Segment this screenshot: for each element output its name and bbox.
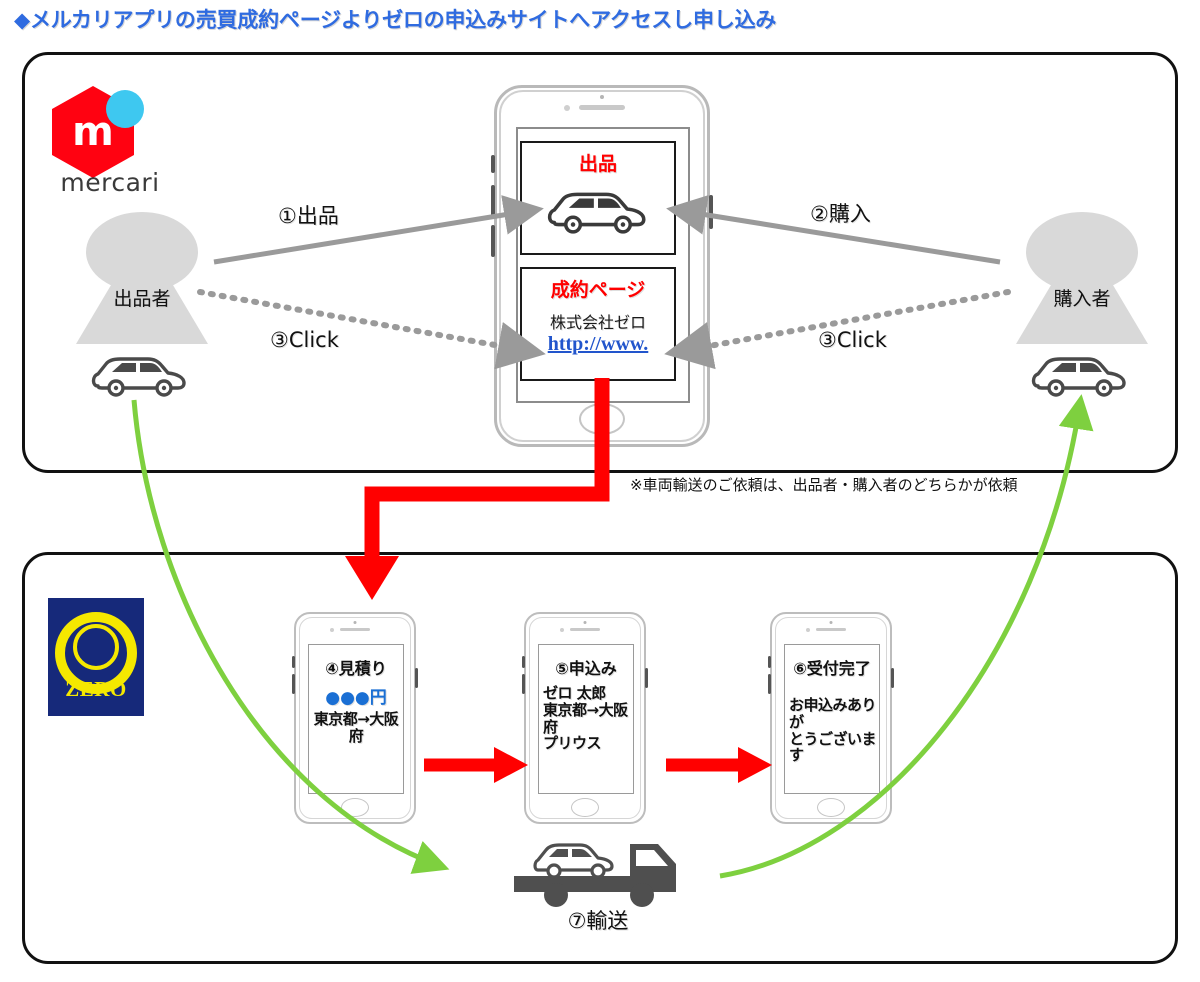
- phone-power-button[interactable]: [415, 668, 418, 688]
- listing-card-title: 出品: [522, 149, 674, 176]
- application-title: ⑤申込み: [539, 655, 633, 679]
- completion-title: ⑥受付完了: [785, 655, 879, 679]
- listing-car-icon: [546, 185, 650, 240]
- connector-label-3b: ③Click: [818, 328, 887, 352]
- contract-company-name: 株式会社ゼロ: [522, 309, 674, 333]
- estimate-route: 東京都→大阪府: [311, 711, 401, 745]
- phone-speaker-icon: [340, 628, 370, 631]
- phone-speaker-icon: [570, 628, 600, 631]
- phone-mute-button[interactable]: [522, 656, 525, 668]
- application-phone: ⑤申込み ゼロ 太郎 東京都→大阪府 プリウス: [524, 612, 646, 824]
- phone-sensor-dot-icon: [584, 621, 587, 624]
- contract-page-card[interactable]: 成約ページ 株式会社ゼロ http://www.: [520, 267, 676, 381]
- phone-speaker-icon: [816, 628, 846, 631]
- phone-volume-down-button[interactable]: [491, 225, 495, 257]
- seller-figure: 出品者: [72, 212, 212, 342]
- transport-label: ⑦輸送: [508, 905, 688, 935]
- zero-inner-ring-icon: [73, 624, 119, 670]
- contract-card-title: 成約ページ: [522, 275, 674, 302]
- phone-home-button[interactable]: [579, 403, 625, 435]
- connector-label-3a: ③Click: [270, 328, 339, 352]
- contract-url-link[interactable]: http://www.: [522, 333, 674, 356]
- phone-screen: ⑥受付完了 お申込みありが とうございます: [784, 644, 880, 794]
- phone-mute-button[interactable]: [768, 656, 771, 668]
- zero-logo: ZERO: [48, 598, 144, 716]
- phone-camera-icon: [330, 628, 334, 632]
- phone-screen: ④見積り ●●●円 東京都→大阪府: [308, 644, 404, 794]
- buyer-car-icon: [1030, 350, 1130, 398]
- footnote-text: ※車両輸送のご依頼は、出品者・購入者のどちらかが依頼: [630, 474, 1018, 495]
- mercari-wordmark: mercari: [40, 168, 180, 197]
- seller-label: 出品者: [72, 284, 212, 311]
- application-details: ゼロ 太郎 東京都→大阪府 プリウス: [543, 685, 631, 752]
- phone-volume-button[interactable]: [522, 674, 525, 694]
- listing-card[interactable]: 出品: [520, 141, 676, 255]
- phone-power-button[interactable]: [645, 668, 648, 688]
- phone-power-button[interactable]: [891, 668, 894, 688]
- phone-sensor-dot-icon: [830, 621, 833, 624]
- connector-label-1: ①出品: [278, 200, 339, 230]
- phone-volume-button[interactable]: [292, 674, 295, 694]
- phone-mute-button[interactable]: [491, 155, 495, 173]
- phone-home-button[interactable]: [817, 798, 845, 817]
- phone-speaker-icon: [579, 105, 625, 110]
- phone-sensor-dot-icon: [600, 95, 604, 99]
- phone-screen: ⑤申込み ゼロ 太郎 東京都→大阪府 プリウス: [538, 644, 634, 794]
- estimate-phone: ④見積り ●●●円 東京都→大阪府: [294, 612, 416, 824]
- phone-sensor-dot-icon: [354, 621, 357, 624]
- page-title: ◆メルカリアプリの売買成約ページよりゼロの申込みサイトへアクセスし申し込み: [14, 4, 1134, 38]
- completion-message: お申込みありが とうございます: [789, 697, 877, 764]
- connector-label-2: ②購入: [810, 198, 871, 228]
- phone-volume-up-button[interactable]: [491, 185, 495, 217]
- completion-phone: ⑥受付完了 お申込みありが とうございます: [770, 612, 892, 824]
- zero-wordmark: ZERO: [48, 677, 144, 702]
- phone-camera-icon: [564, 105, 570, 111]
- phone-camera-icon: [806, 628, 810, 632]
- buyer-label: 購入者: [1012, 284, 1152, 311]
- mercari-app-phone: 出品 成約ページ 株式会社ゼロ http://www.: [494, 85, 710, 447]
- phone-mute-button[interactable]: [292, 656, 295, 668]
- mercari-cyan-dot-icon: [106, 90, 144, 128]
- seller-car-icon: [90, 350, 190, 398]
- phone-home-button[interactable]: [341, 798, 369, 817]
- estimate-price: ●●●円: [311, 689, 401, 708]
- estimate-title: ④見積り: [309, 655, 403, 679]
- car-carrier-truck-icon: [508, 830, 688, 908]
- phone-home-button[interactable]: [571, 798, 599, 817]
- phone-camera-icon: [560, 628, 564, 632]
- phone-power-button[interactable]: [709, 195, 713, 229]
- phone-volume-button[interactable]: [768, 674, 771, 694]
- buyer-figure: 購入者: [1012, 212, 1152, 342]
